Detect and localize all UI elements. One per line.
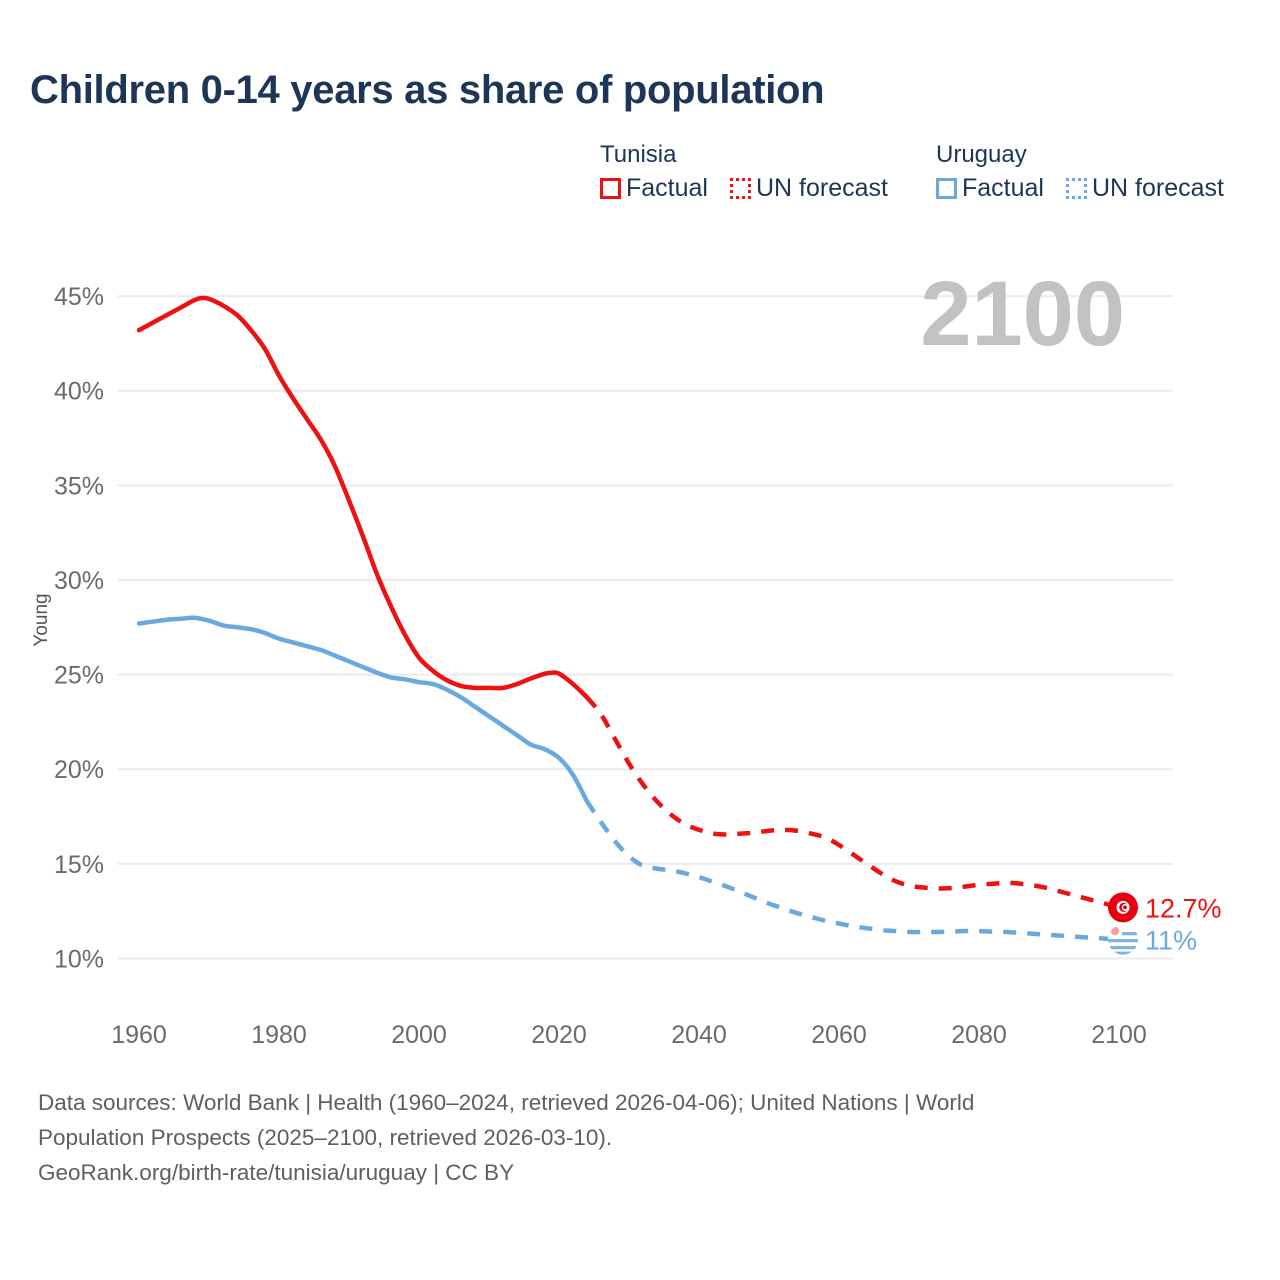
legend-swatch-solid-icon (936, 178, 957, 199)
x-tick-label: 2020 (531, 1021, 587, 1049)
legend-swatch-solid-icon (600, 178, 621, 199)
tunisia-flag-icon[interactable] (1108, 892, 1138, 922)
legend-label-uruguay-forecast: UN forecast (1092, 175, 1224, 202)
series-line-factual-uruguay (139, 618, 587, 802)
y-tick-label: 15% (54, 851, 104, 879)
x-axis-tick-labels: 19601980200020202040206020802100 (111, 1021, 1147, 1049)
footer-line-2: Population Prospects (2025–2100, retriev… (38, 1120, 1168, 1155)
endpoint-markers: 12.7%11% (1108, 892, 1222, 955)
y-tick-label: 45% (54, 283, 104, 311)
legend-row-uruguay: Factual UN forecast (936, 175, 1276, 202)
legend-country-tunisia: Tunisia (600, 142, 936, 168)
x-tick-label: 1980 (251, 1021, 307, 1049)
year-watermark: 2100 (920, 263, 1125, 365)
y-tick-label: 30% (54, 567, 104, 595)
legend-label-tunisia-forecast: UN forecast (756, 175, 888, 202)
y-tick-label: 25% (54, 662, 104, 690)
gridlines (118, 296, 1173, 958)
legend-swatch-dotted-icon (730, 178, 751, 199)
uruguay-flag-icon[interactable] (1108, 925, 1138, 955)
series-line-forecast-uruguay (587, 801, 1119, 939)
legend-swatch-dotted-icon (1066, 178, 1087, 199)
footer-line-1: Data sources: World Bank | Health (1960–… (38, 1085, 1168, 1120)
x-tick-label: 2040 (671, 1021, 727, 1049)
chart-root: Children 0-14 years as share of populati… (0, 0, 1280, 1280)
series-line-factual-tunisia (139, 298, 587, 697)
legend-entry-uruguay-forecast[interactable]: UN forecast (1066, 175, 1224, 202)
legend-group-uruguay: Uruguay Factual UN forecast (936, 142, 1276, 202)
footer-line-3[interactable]: GeoRank.org/birth-rate/tunisia/uruguay |… (38, 1155, 1168, 1190)
x-tick-label: 2100 (1091, 1021, 1147, 1049)
chart-legend: Tunisia Factual UN forecast Uruguay Fact… (600, 142, 1276, 202)
series-line-forecast-tunisia (587, 697, 1119, 907)
x-tick-label: 1960 (111, 1021, 167, 1049)
uruguay-end-label: 11% (1145, 926, 1197, 956)
y-axis-title: Young (31, 593, 52, 646)
y-tick-label: 35% (54, 472, 104, 500)
x-tick-label: 2060 (811, 1021, 867, 1049)
legend-group-tunisia: Tunisia Factual UN forecast (600, 142, 936, 202)
y-tick-label: 20% (54, 756, 104, 784)
x-tick-label: 2000 (391, 1021, 447, 1049)
y-axis-tick-labels: 10%15%20%25%30%35%40%45% (54, 283, 104, 973)
legend-entry-uruguay-factual[interactable]: Factual (936, 175, 1044, 202)
y-tick-label: 40% (54, 378, 104, 406)
y-tick-label: 10% (54, 946, 104, 974)
tunisia-end-label: 12.7% (1145, 893, 1222, 923)
legend-entry-tunisia-factual[interactable]: Factual (600, 175, 708, 202)
x-tick-label: 2080 (951, 1021, 1007, 1049)
legend-label-uruguay-factual: Factual (962, 175, 1044, 202)
legend-country-uruguay: Uruguay (936, 142, 1276, 168)
legend-entry-tunisia-forecast[interactable]: UN forecast (730, 175, 888, 202)
series-lines (139, 298, 1119, 940)
footer-sources: Data sources: World Bank | Health (1960–… (38, 1085, 1168, 1190)
legend-label-tunisia-factual: Factual (626, 175, 708, 202)
page-title: Children 0-14 years as share of populati… (30, 68, 824, 113)
legend-row-tunisia: Factual UN forecast (600, 175, 936, 202)
